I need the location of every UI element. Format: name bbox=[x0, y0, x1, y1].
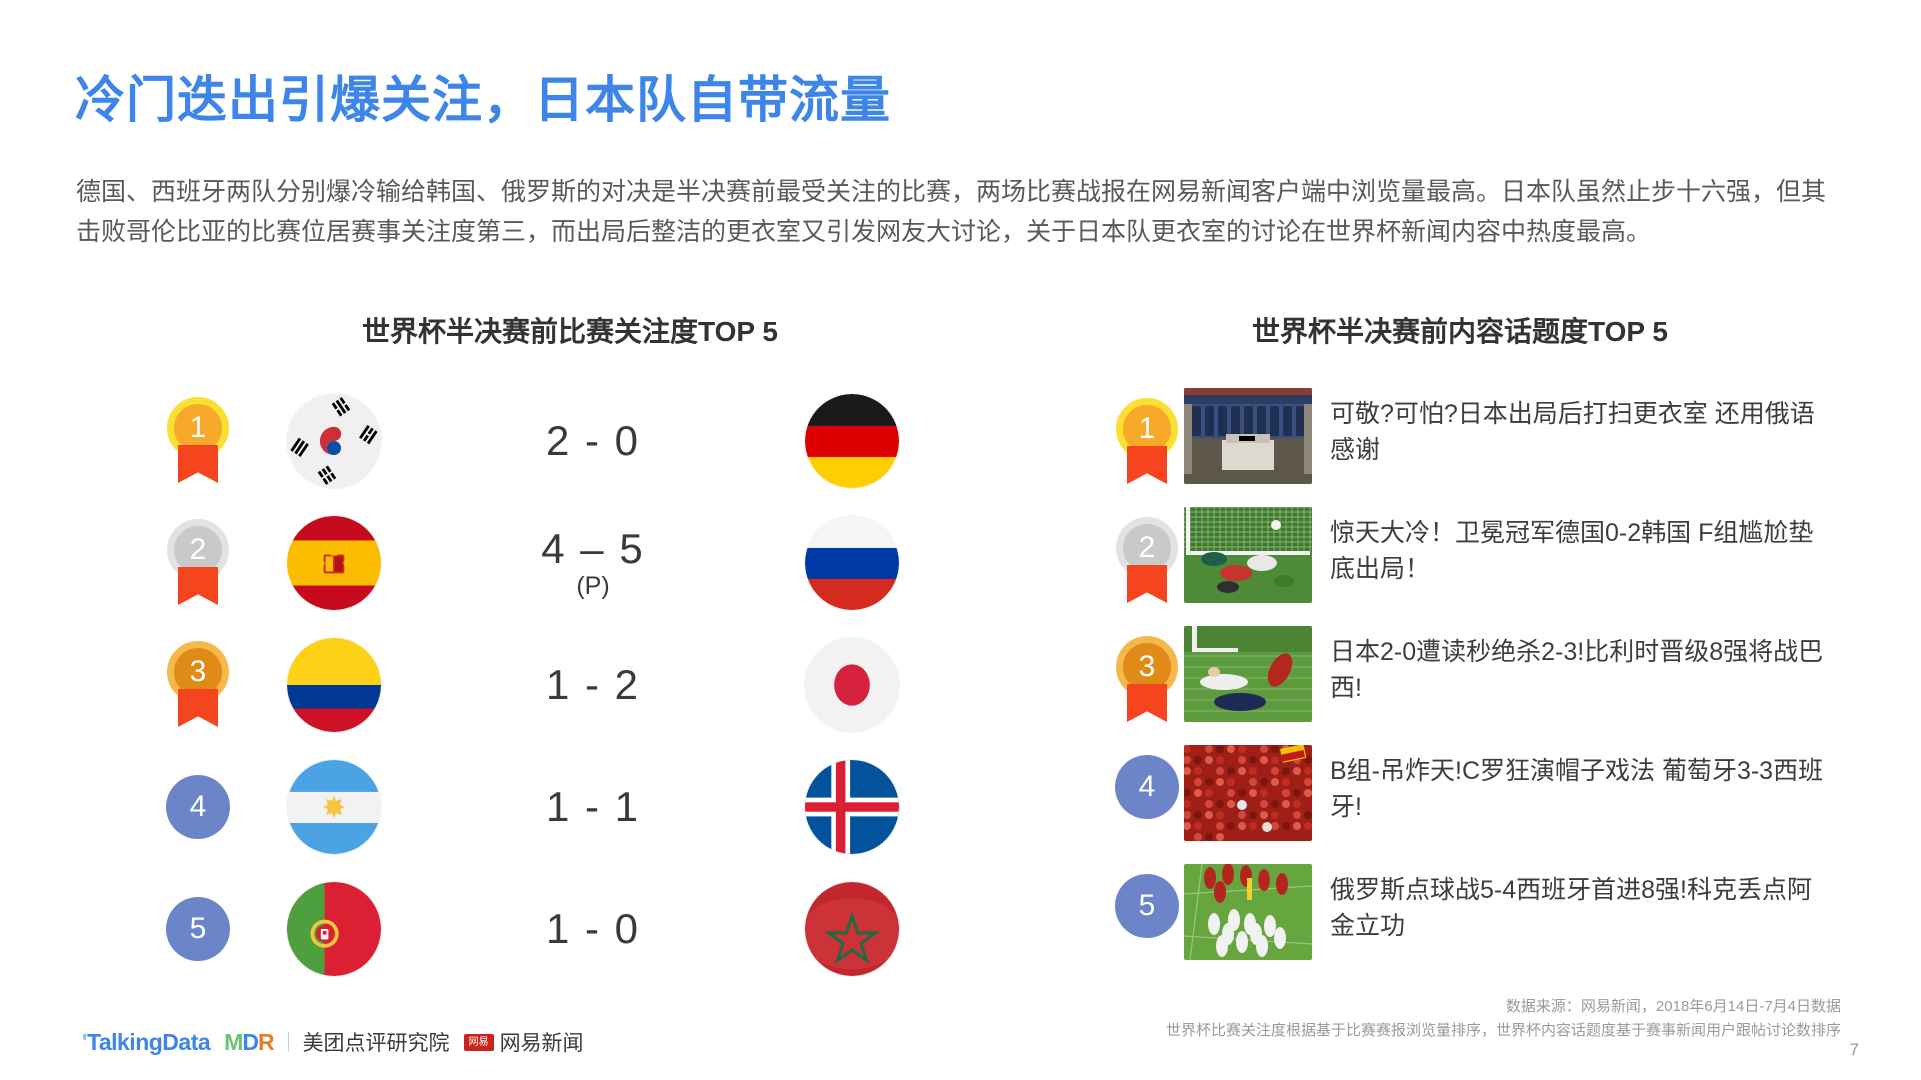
news-headline[interactable]: B组-吊炸天!C罗狂演帽子戏法 葡萄牙3-3西班牙! bbox=[1330, 745, 1830, 825]
home-team-cell bbox=[246, 516, 422, 610]
home-team-cell bbox=[246, 882, 422, 976]
medal-ribbon-icon bbox=[178, 567, 218, 605]
match-ranking-list: 1 2 - 0 2 bbox=[150, 380, 940, 990]
netease-badge-icon: 网易 bbox=[464, 1034, 494, 1051]
news-rank-badge-3: 3 bbox=[1116, 636, 1178, 724]
score-value: 1 - 1 bbox=[546, 783, 640, 830]
away-team-cell bbox=[764, 638, 940, 732]
score-value: 1 - 2 bbox=[546, 661, 640, 708]
match-rank-badge-1: 1 bbox=[167, 397, 229, 485]
news-rank-badge-5: 5 bbox=[1115, 874, 1179, 938]
logo-divider bbox=[288, 1032, 289, 1052]
news-headline[interactable]: 俄罗斯点球战5-4西班牙首进8强!科克丢点阿金立功 bbox=[1330, 864, 1830, 944]
away-team-cell bbox=[764, 882, 940, 976]
match-rank-cell: 2 bbox=[150, 519, 246, 607]
medal-ribbon-icon bbox=[1127, 684, 1167, 722]
news-row[interactable]: 1 可敬?可怕?日本出局后打扫更衣室 还用俄语感谢 bbox=[1110, 388, 1830, 507]
match-score: 4 – 5 (P) bbox=[422, 527, 764, 599]
news-row[interactable]: 3 日本2-0遭读秒绝杀2-3!比利时晋级8强将战巴西! bbox=[1110, 626, 1830, 745]
page-title: 冷门迭出引爆关注，日本队自带流量 bbox=[75, 60, 891, 132]
home-team-cell bbox=[246, 394, 422, 488]
medal-ribbon-icon bbox=[1127, 446, 1167, 484]
section-heading-topics: 世界杯半决赛前内容话题度TOP 5 bbox=[1140, 310, 1780, 350]
flag-argentina-icon bbox=[287, 760, 381, 854]
match-row: 1 2 - 0 bbox=[150, 380, 940, 502]
match-score: 2 - 0 bbox=[422, 419, 764, 463]
news-rank-badge-4: 4 bbox=[1115, 755, 1179, 819]
talkingdata-logo: 'TalkingData bbox=[82, 1029, 210, 1056]
home-team-cell bbox=[246, 760, 422, 854]
news-headline[interactable]: 可敬?可怕?日本出局后打扫更衣室 还用俄语感谢 bbox=[1330, 388, 1830, 468]
source-line-1: 数据来源：网易新闻，2018年6月14日-7月4日数据 bbox=[1506, 998, 1841, 1015]
source-line-2: 世界杯比赛关注度根据基于比赛赛报浏览量排序，世界杯内容话题度基于赛事新闻用户跟帖… bbox=[1166, 1019, 1841, 1043]
news-thumbnail-goal-save-photo[interactable] bbox=[1184, 507, 1312, 603]
match-rank-cell: 3 bbox=[150, 641, 246, 729]
score-value: 4 – 5 bbox=[541, 525, 644, 572]
news-rank-cell: 2 bbox=[1110, 507, 1184, 605]
match-rank-badge-4: 4 bbox=[166, 775, 230, 839]
news-thumbnail-locker-room-photo[interactable] bbox=[1184, 388, 1312, 484]
news-headline[interactable]: 惊天大冷！卫冕冠军德国0-2韩国 F组尴尬垫底出局！ bbox=[1330, 507, 1830, 587]
match-rank-badge-2: 2 bbox=[167, 519, 229, 607]
news-headline[interactable]: 日本2-0遭读秒绝杀2-3!比利时晋级8强将战巴西! bbox=[1330, 626, 1830, 706]
score-note: (P) bbox=[422, 573, 764, 599]
match-score: 1 - 2 bbox=[422, 663, 764, 707]
flag-germany-icon bbox=[805, 394, 899, 488]
footer-logos: 'TalkingData MDR 美团点评研究院 网易 网易新闻 bbox=[82, 1027, 584, 1057]
news-rank-cell: 4 bbox=[1110, 745, 1184, 819]
flag-south-korea-icon bbox=[287, 394, 381, 488]
away-team-cell bbox=[764, 760, 940, 854]
news-row[interactable]: 2 惊天大冷！卫冕冠军德国0-2韩国 F组尴尬垫底出局！ bbox=[1110, 507, 1830, 626]
news-row[interactable]: 4 B组-吊炸天!C罗狂演帽子戏法 葡萄牙3-3西班牙! bbox=[1110, 745, 1830, 864]
away-team-cell bbox=[764, 516, 940, 610]
match-row: 3 1 - 2 bbox=[150, 624, 940, 746]
match-rank-badge-5: 5 bbox=[166, 897, 230, 961]
data-source-note: 数据来源：网易新闻，2018年6月14日-7月4日数据 世界杯比赛关注度根据基于… bbox=[1166, 995, 1841, 1043]
news-rank-badge-1: 1 bbox=[1116, 398, 1178, 486]
news-rank-badge-2: 2 bbox=[1116, 517, 1178, 605]
flag-japan-icon bbox=[805, 638, 899, 732]
away-team-cell bbox=[764, 394, 940, 488]
match-row: 4 1 - 1 bbox=[150, 746, 940, 868]
match-rank-badge-3: 3 bbox=[167, 641, 229, 729]
match-rank-cell: 1 bbox=[150, 397, 246, 485]
news-rank-cell: 3 bbox=[1110, 626, 1184, 724]
section-heading-matches: 世界杯半决赛前比赛关注度TOP 5 bbox=[285, 310, 855, 350]
score-value: 1 - 0 bbox=[546, 905, 640, 952]
meituan-research-logo: 美团点评研究院 bbox=[303, 1027, 450, 1057]
news-rank-cell: 5 bbox=[1110, 864, 1184, 938]
news-thumbnail-crowd-fans-photo[interactable] bbox=[1184, 745, 1312, 841]
match-score: 1 - 0 bbox=[422, 907, 764, 951]
score-value: 2 - 0 bbox=[546, 417, 640, 464]
mdr-logo: MDR bbox=[224, 1029, 273, 1056]
news-thumbnail-players-down-photo[interactable] bbox=[1184, 626, 1312, 722]
flag-colombia-icon bbox=[287, 638, 381, 732]
flag-russia-icon bbox=[805, 516, 899, 610]
match-row: 5 1 - 0 bbox=[150, 868, 940, 990]
news-row[interactable]: 5 俄罗斯点球战5-4西班牙首进8强!科克丢点阿金立功 bbox=[1110, 864, 1830, 983]
match-rank-cell: 4 bbox=[150, 775, 246, 839]
netease-news-logo: 网易 网易新闻 bbox=[464, 1027, 584, 1057]
intro-paragraph: 德国、西班牙两队分别爆冷输给韩国、俄罗斯的对决是半决赛前最受关注的比赛，两场比赛… bbox=[76, 172, 1836, 252]
page-number: 7 bbox=[1850, 1040, 1859, 1060]
medal-ribbon-icon bbox=[178, 445, 218, 483]
news-ranking-list: 1 可敬?可怕?日本出局后打扫更衣室 还用俄语感谢 2 bbox=[1110, 388, 1830, 983]
slide-root: 冷门迭出引爆关注，日本队自带流量 德国、西班牙两队分别爆冷输给韩国、俄罗斯的对决… bbox=[0, 0, 1921, 1080]
match-rank-cell: 5 bbox=[150, 897, 246, 961]
flag-spain-icon bbox=[287, 516, 381, 610]
flag-portugal-icon bbox=[287, 882, 381, 976]
news-thumbnail-celebration-photo[interactable] bbox=[1184, 864, 1312, 960]
match-row: 2 4 – 5 (P) bbox=[150, 502, 940, 624]
flag-iceland-icon bbox=[805, 760, 899, 854]
medal-ribbon-icon bbox=[178, 689, 218, 727]
medal-ribbon-icon bbox=[1127, 565, 1167, 603]
match-score: 1 - 1 bbox=[422, 785, 764, 829]
news-rank-cell: 1 bbox=[1110, 388, 1184, 486]
netease-label: 网易新闻 bbox=[500, 1027, 584, 1057]
home-team-cell bbox=[246, 638, 422, 732]
flag-morocco-icon bbox=[805, 882, 899, 976]
